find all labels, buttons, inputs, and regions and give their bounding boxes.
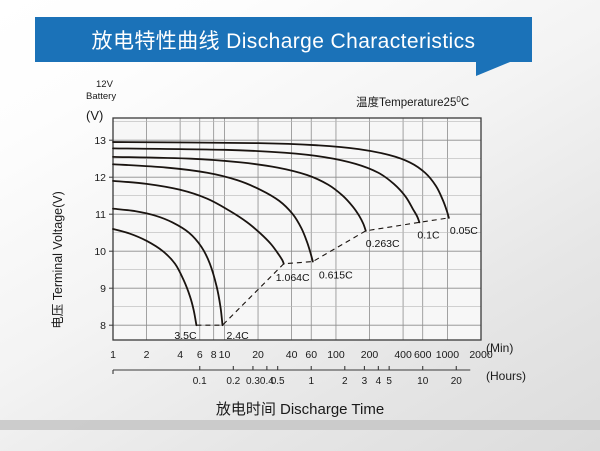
x-tick-label-minutes: 60 bbox=[305, 349, 317, 361]
x-tick-label-hours: 3 bbox=[362, 376, 368, 387]
x-tick-label-minutes: 8 bbox=[211, 349, 217, 361]
voltage-unit-label: (V) bbox=[86, 108, 103, 123]
x-tick-label-hours: 0.5 bbox=[271, 376, 285, 387]
x-tick-label-hours: 10 bbox=[417, 376, 429, 387]
x-axis-minutes-ticks: 124681020406010020040060010002000 bbox=[110, 349, 493, 361]
x-tick-label-hours: 20 bbox=[451, 376, 463, 387]
curve-label-3-5C: 3.5C bbox=[174, 330, 197, 342]
x-axis-title: 放电时间 Discharge Time bbox=[0, 398, 600, 419]
x-tick-label-hours: 0.3 bbox=[246, 376, 260, 387]
curve-label-0-05C: 0.05C bbox=[450, 225, 478, 237]
curve-label-2-4C: 2.4C bbox=[227, 330, 250, 342]
x-tick-label-minutes: 1 bbox=[110, 349, 116, 361]
footer-divider bbox=[0, 420, 600, 430]
y-axis-title: 电压 Terminal Voltage(V) bbox=[51, 191, 65, 329]
chart-svg: 1312111098 12468102040601002004006001000… bbox=[0, 62, 600, 422]
y-tick-label: 11 bbox=[95, 209, 106, 221]
x-tick-label-hours: 4 bbox=[376, 376, 382, 387]
x-tick-label-minutes: 1000 bbox=[436, 349, 460, 361]
temperature-note: 温度Temperature250C bbox=[356, 95, 469, 109]
x-tick-label-minutes: 2 bbox=[144, 349, 150, 361]
battery-label-note: Battery bbox=[86, 91, 116, 102]
battery-voltage-note: 12V bbox=[96, 79, 114, 90]
x-tick-label-minutes: 4 bbox=[177, 349, 183, 361]
y-axis-tick-labels: 1312111098 bbox=[94, 135, 113, 332]
x-tick-label-hours: 2 bbox=[342, 376, 348, 387]
x-tick-label-minutes: 10 bbox=[219, 349, 231, 361]
x-tick-label-minutes: 200 bbox=[361, 349, 379, 361]
curve-label-0-615C: 0.615C bbox=[319, 270, 353, 282]
header-banner: 放电特性曲线 Discharge Characteristics bbox=[35, 17, 532, 62]
minutes-unit-label: (Min) bbox=[486, 341, 513, 355]
y-tick-label: 8 bbox=[100, 320, 106, 332]
x-axis-hours-ticks: 0.10.20.30.40.5123451020 bbox=[113, 366, 470, 387]
curve-label-0-263C: 0.263C bbox=[366, 238, 400, 250]
discharge-chart: 1312111098 12468102040601002004006001000… bbox=[0, 62, 600, 422]
y-tick-label: 9 bbox=[100, 283, 106, 295]
x-tick-label-minutes: 600 bbox=[414, 349, 432, 361]
x-tick-label-minutes: 40 bbox=[286, 349, 298, 361]
y-tick-label: 10 bbox=[94, 246, 106, 258]
y-tick-label: 13 bbox=[94, 135, 106, 147]
x-tick-label-hours: 0.2 bbox=[226, 376, 240, 387]
x-tick-label-hours: 0.1 bbox=[193, 376, 207, 387]
x-tick-label-minutes: 100 bbox=[327, 349, 345, 361]
curve-label-0-1C: 0.1C bbox=[417, 229, 440, 241]
curve-label-1-064C: 1.064C bbox=[276, 272, 310, 284]
x-tick-label-minutes: 6 bbox=[197, 349, 203, 361]
y-tick-label: 12 bbox=[94, 172, 106, 184]
x-tick-label-minutes: 400 bbox=[394, 349, 412, 361]
x-tick-label-hours: 1 bbox=[308, 376, 314, 387]
x-tick-label-hours: 5 bbox=[386, 376, 392, 387]
page-title: 放电特性曲线 Discharge Characteristics bbox=[92, 25, 476, 55]
x-tick-label-minutes: 20 bbox=[252, 349, 264, 361]
hours-unit-label: (Hours) bbox=[486, 369, 526, 383]
banner-body: 放电特性曲线 Discharge Characteristics bbox=[35, 17, 532, 62]
page-root: 放电特性曲线 Discharge Characteristics 1312111… bbox=[0, 0, 600, 451]
